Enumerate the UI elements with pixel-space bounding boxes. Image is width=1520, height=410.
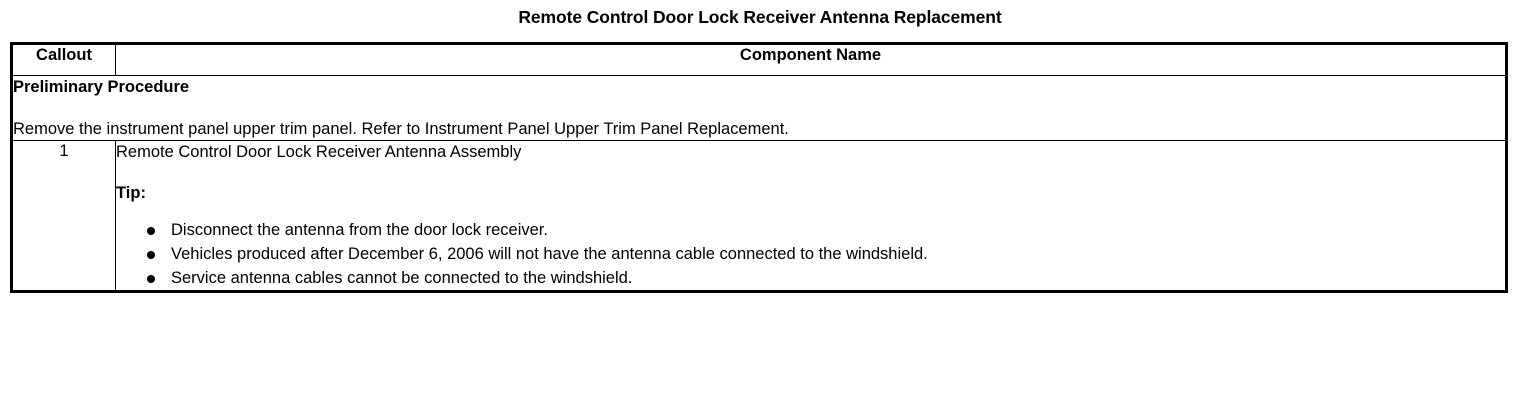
spacer bbox=[13, 98, 1505, 118]
list-item: Service antenna cables cannot be connect… bbox=[116, 266, 1505, 290]
component-name-1: Remote Control Door Lock Receiver Antenn… bbox=[116, 141, 1505, 163]
preliminary-procedure-heading: Preliminary Procedure bbox=[13, 76, 1505, 98]
tip-list: Disconnect the antenna from the door loc… bbox=[116, 218, 1505, 290]
callout-number-1: 1 bbox=[12, 141, 116, 292]
spacer bbox=[116, 163, 1505, 182]
document-page: Remote Control Door Lock Receiver Antenn… bbox=[0, 0, 1520, 410]
bullet-icon bbox=[147, 251, 155, 259]
bullet-icon bbox=[147, 275, 155, 283]
table-row: 1 Remote Control Door Lock Receiver Ante… bbox=[12, 141, 1507, 292]
tip-label: Tip: bbox=[116, 182, 1505, 204]
spacer bbox=[116, 204, 1505, 218]
column-header-callout: Callout bbox=[12, 44, 116, 76]
page-title: Remote Control Door Lock Receiver Antenn… bbox=[0, 6, 1520, 28]
list-item: Disconnect the antenna from the door loc… bbox=[116, 218, 1505, 242]
column-header-component-name: Component Name bbox=[116, 44, 1507, 76]
preliminary-procedure-text: Remove the instrument panel upper trim p… bbox=[13, 118, 1505, 140]
list-item-label: Vehicles produced after December 6, 2006… bbox=[171, 245, 928, 263]
list-item-label: Service antenna cables cannot be connect… bbox=[171, 269, 632, 287]
preliminary-procedure-row: Preliminary Procedure Remove the instrum… bbox=[12, 76, 1507, 141]
bullet-icon bbox=[147, 227, 155, 235]
table-header-row: Callout Component Name bbox=[12, 44, 1507, 76]
component-detail-cell-1: Remote Control Door Lock Receiver Antenn… bbox=[116, 141, 1507, 292]
list-item-label: Disconnect the antenna from the door loc… bbox=[171, 221, 548, 239]
preliminary-procedure-cell: Preliminary Procedure Remove the instrum… bbox=[12, 76, 1507, 141]
procedure-table: Callout Component Name Preliminary Proce… bbox=[10, 42, 1508, 293]
list-item: Vehicles produced after December 6, 2006… bbox=[116, 242, 1505, 266]
